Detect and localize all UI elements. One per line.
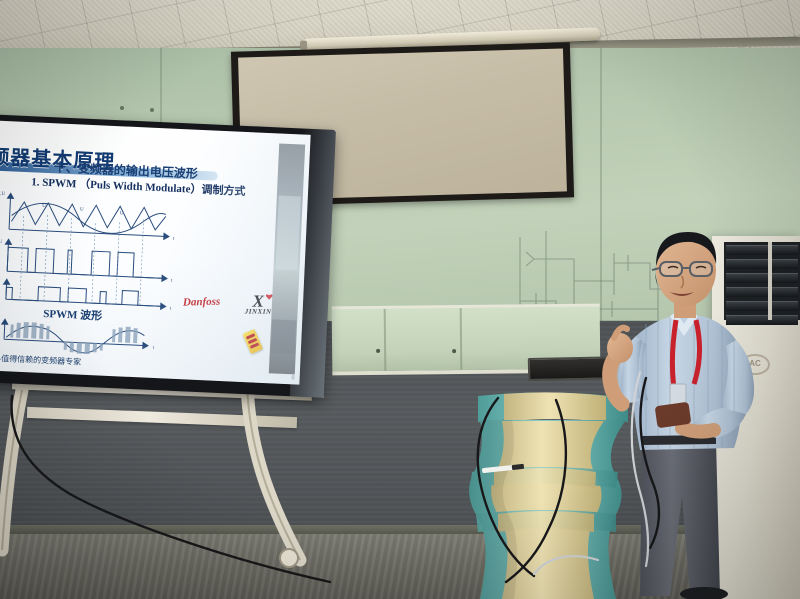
svg-text:U,U: U,U — [0, 192, 6, 197]
svg-text:U: U — [80, 208, 84, 213]
svg-text:t: t — [169, 307, 171, 312]
lecture-room-photo: AC 变频器基本原理 Danfoss X JINXIN — [0, 0, 800, 599]
wall-tv-display[interactable]: 变频器基本原理 Danfoss X JINXIN 十、变频器的输出电压波形 1.… — [0, 114, 336, 398]
svg-text:t: t — [173, 237, 175, 242]
presentation-slide: 变频器基本原理 Danfoss X JINXIN 十、变频器的输出电压波形 1.… — [0, 121, 311, 385]
svg-text:U: U — [0, 280, 1, 285]
tv-stand-legs — [0, 380, 340, 599]
jinxin-mark: X — [245, 296, 272, 308]
screen-sticker — [242, 329, 263, 354]
svg-text:U: U — [120, 211, 124, 216]
svg-text:U: U — [0, 240, 3, 245]
jinxin-logo: X JINXIN — [245, 296, 272, 316]
svg-text:t: t — [153, 346, 155, 351]
spwm-waveform-diagram: U,UUU ttt UUU — [0, 185, 195, 312]
slide-page-number: 8 — [291, 375, 295, 381]
svg-text:t: t — [171, 279, 173, 284]
presenter — [596, 228, 776, 599]
svg-text:U: U — [42, 204, 46, 209]
jinxin-name: JINXIN — [245, 308, 272, 316]
